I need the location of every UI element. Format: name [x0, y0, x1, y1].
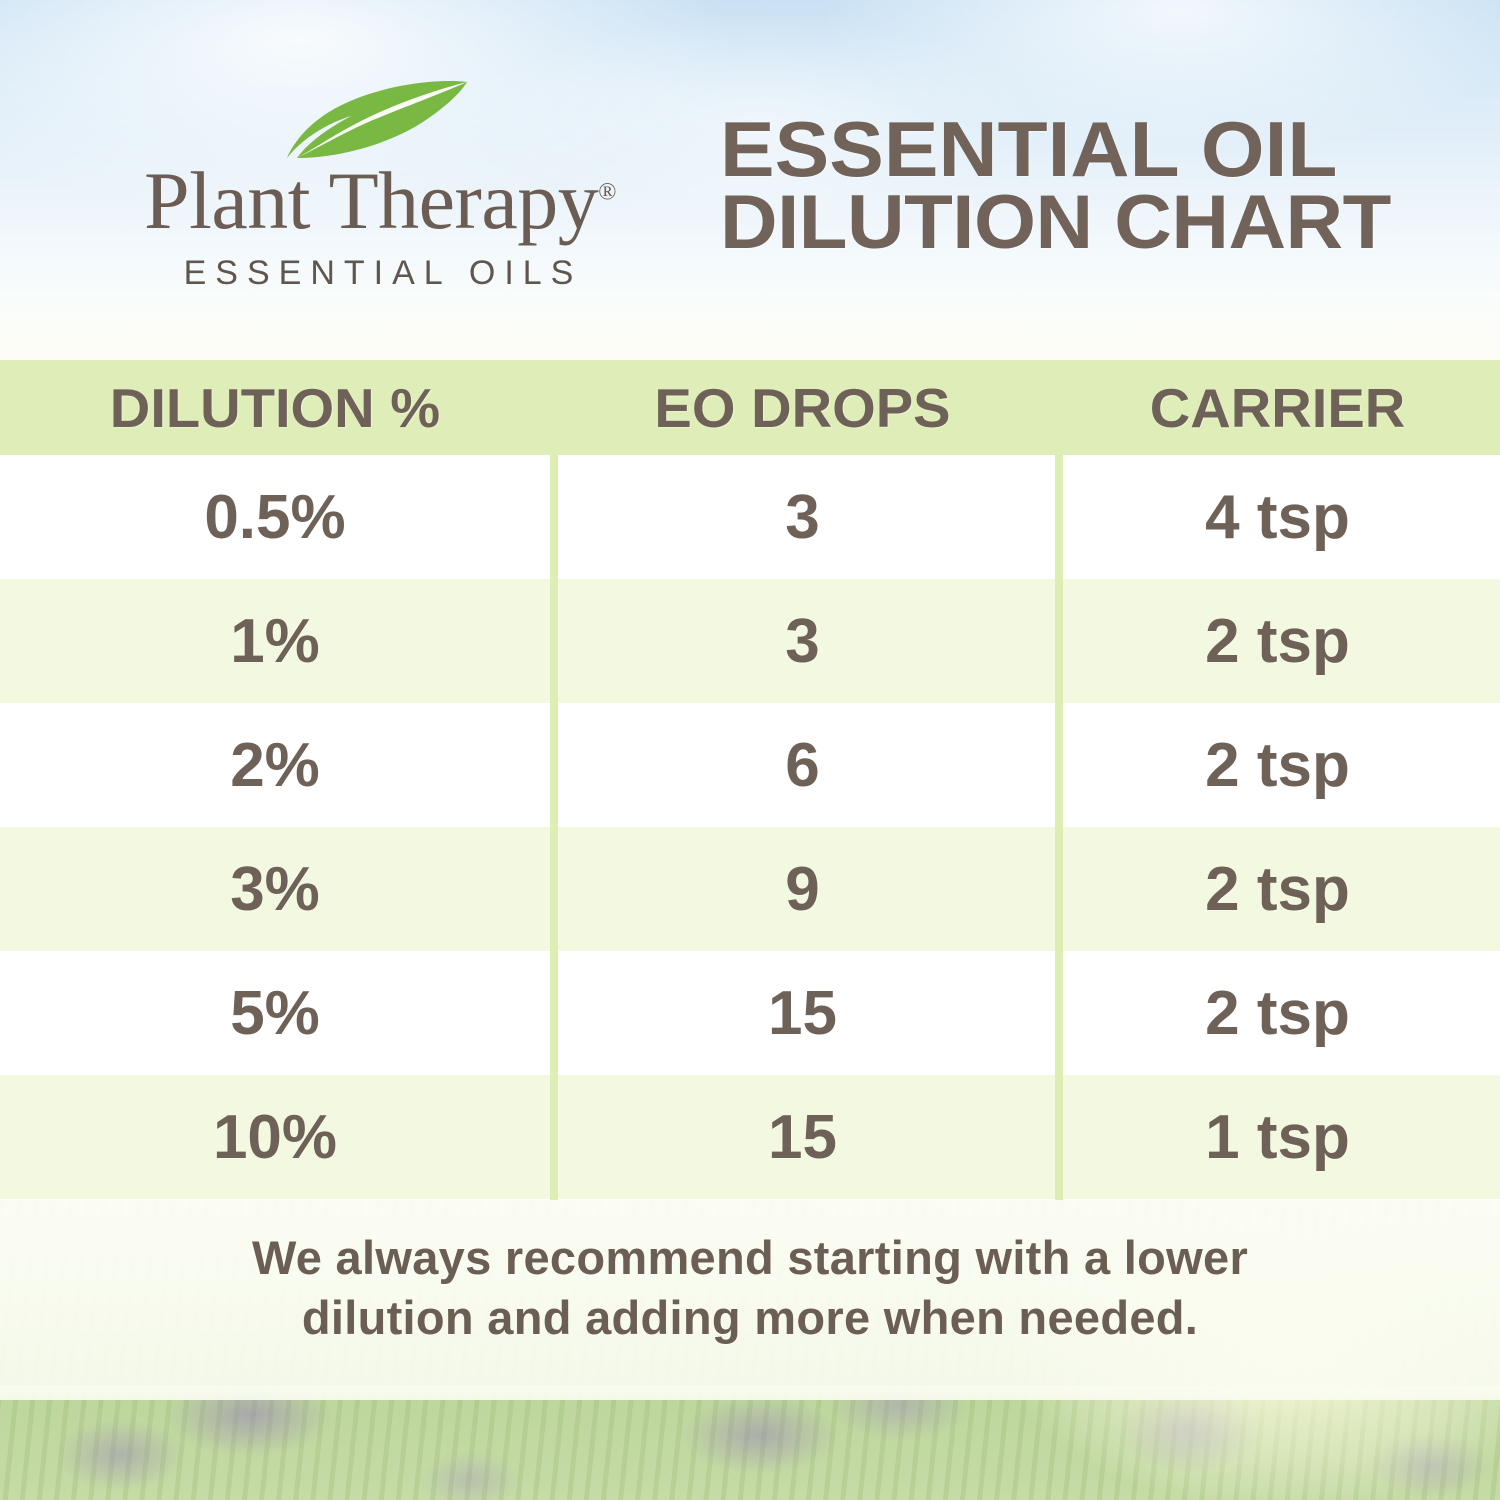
cell-drops: 15: [550, 1102, 1055, 1173]
cell-drops: 3: [550, 482, 1055, 553]
title-line-2: DILUTION CHART: [720, 187, 1455, 260]
column-divider-1: [550, 455, 558, 1200]
cell-dilution: 10%: [0, 1102, 550, 1173]
dilution-table: DILUTION % EO DROPS CARRIER 0.5% 3 4 tsp…: [0, 360, 1500, 1200]
table-row: 10% 15 1 tsp: [0, 1075, 1500, 1199]
header-banner: Plant Therapy® ESSENTIAL OILS ESSENTIAL …: [0, 0, 1500, 360]
cell-dilution: 0.5%: [0, 482, 550, 553]
column-header-dilution: DILUTION %: [0, 376, 556, 440]
brand-logo: Plant Therapy® ESSENTIAL OILS: [85, 78, 675, 293]
column-divider-2: [1055, 455, 1063, 1200]
cell-carrier: 2 tsp: [1055, 978, 1500, 1049]
table-row: 1% 3 2 tsp: [0, 579, 1500, 703]
note-line-1: We always recommend starting with a lowe…: [0, 1228, 1500, 1288]
brand-name-text: Plant Therapy: [144, 155, 598, 246]
note-line-2: dilution and adding more when needed.: [0, 1288, 1500, 1348]
leaf-icon: [85, 78, 675, 160]
title-line-1: ESSENTIAL OIL: [720, 112, 1455, 187]
cell-drops: 9: [550, 854, 1055, 925]
table-row: 0.5% 3 4 tsp: [0, 455, 1500, 579]
column-header-carrier: CARRIER: [1051, 376, 1500, 440]
cell-carrier: 2 tsp: [1055, 854, 1500, 925]
registered-mark: ®: [598, 180, 616, 206]
cell-carrier: 1 tsp: [1055, 1102, 1500, 1173]
table-row: 5% 15 2 tsp: [0, 951, 1500, 1075]
photo-fade-gradient: [0, 1386, 1500, 1400]
cell-carrier: 4 tsp: [1055, 482, 1500, 553]
column-header-eo-drops: EO DROPS: [545, 376, 1060, 440]
cell-drops: 6: [550, 730, 1055, 801]
cell-dilution: 2%: [0, 730, 550, 801]
cell-carrier: 2 tsp: [1055, 606, 1500, 677]
cell-dilution: 3%: [0, 854, 550, 925]
table-row: 2% 6 2 tsp: [0, 703, 1500, 827]
page-title: ESSENTIAL OIL DILUTION CHART: [720, 112, 1420, 260]
cell-drops: 15: [550, 978, 1055, 1049]
brand-tagline: ESSENTIAL OILS: [85, 254, 675, 293]
cell-dilution: 5%: [0, 978, 550, 1049]
recommendation-note: We always recommend starting with a lowe…: [0, 1228, 1500, 1348]
brand-name: Plant Therapy®: [85, 162, 675, 241]
table-row: 3% 9 2 tsp: [0, 827, 1500, 951]
dilution-chart-page: Plant Therapy® ESSENTIAL OILS ESSENTIAL …: [0, 0, 1500, 1500]
table-header-row: DILUTION % EO DROPS CARRIER: [0, 360, 1500, 455]
cell-dilution: 1%: [0, 606, 550, 677]
cell-drops: 3: [550, 606, 1055, 677]
footer-banner: We always recommend starting with a lowe…: [0, 1200, 1500, 1500]
cell-carrier: 2 tsp: [1055, 730, 1500, 801]
